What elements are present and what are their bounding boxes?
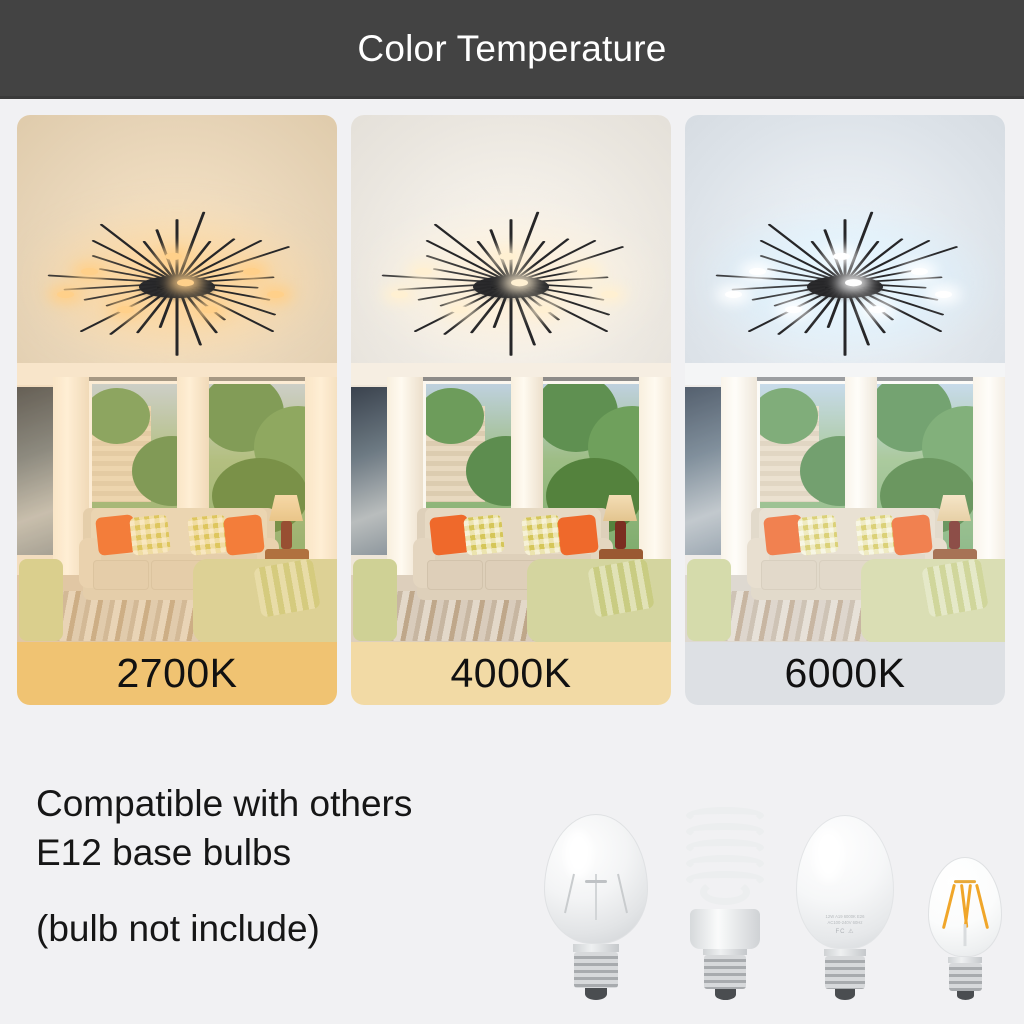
base-contact-tip: [957, 991, 974, 1000]
armchair-left: [687, 559, 731, 641]
light-bulb: [911, 268, 928, 275]
sputnik-ceiling-light: [27, 235, 327, 330]
fixture-spike: [510, 280, 513, 356]
wall-art: [17, 387, 55, 555]
led-print-line-1: 12W A19 6000K E26: [826, 914, 865, 920]
throw-pillow-orange: [557, 514, 599, 556]
curtain-panel: [639, 377, 671, 577]
temperature-card-2700k[interactable]: 2700K: [17, 115, 337, 705]
light-bulb: [725, 291, 742, 298]
scene-photo-2700k: [17, 115, 337, 642]
light-bulb: [57, 291, 74, 298]
light-bulb: [391, 291, 408, 298]
curtain-panel: [305, 377, 337, 577]
wall-art: [351, 387, 389, 555]
e26-screw-base: [704, 955, 746, 989]
led-print-line-2: AC100-240V 60Hz: [828, 920, 863, 926]
light-bulb: [749, 268, 766, 275]
throw-pillow-check: [855, 514, 897, 556]
light-bulb: [201, 306, 218, 313]
led-neck: [824, 949, 866, 956]
throw-pillow-check: [187, 514, 229, 556]
light-bulb: [165, 253, 182, 260]
compatible-bulbs-group: 12W A19 6000K E26 AC100-240V 60Hz FC ⚠: [534, 718, 1012, 1018]
led-filament-bulb: [928, 857, 1002, 1000]
sputnik-ceiling-light: [695, 235, 995, 330]
light-bulb: [833, 253, 850, 260]
light-bulb: [499, 253, 516, 260]
led-frosted-a-bulb: 12W A19 6000K E26 AC100-240V 60Hz FC ⚠: [796, 815, 894, 1000]
base-contact-tip: [585, 988, 607, 1000]
incandescent-a-shape-bulb: [544, 814, 648, 1000]
light-bulb: [415, 268, 432, 275]
sofa-cushion: [427, 560, 483, 590]
temperature-card-6000k[interactable]: 6000K: [685, 115, 1005, 705]
fixture-spike: [176, 280, 179, 356]
sofa-cushion: [761, 560, 817, 590]
cfl-ballast-housing: [690, 909, 760, 949]
incandescent-neck: [573, 944, 619, 952]
table-lamp-base: [281, 521, 292, 549]
temperature-label-2700k: 2700K: [17, 642, 337, 705]
wall-art: [685, 387, 723, 555]
armchair-left: [19, 559, 63, 641]
sputnik-ceiling-light: [361, 235, 661, 330]
compatibility-line-2: E12 base bulbs: [36, 829, 536, 878]
armchair-pillow: [921, 558, 989, 618]
ceiling-area: [685, 115, 1005, 370]
page-title: Color Temperature: [357, 30, 666, 67]
light-bulb: [267, 291, 284, 298]
throw-pillow-orange: [891, 514, 933, 556]
living-room-scene: [351, 363, 671, 642]
incandescent-glass: [544, 814, 648, 944]
temperature-card-4000k[interactable]: 4000K: [351, 115, 671, 705]
compatibility-note: (bulb not include): [36, 908, 536, 950]
throw-pillow-check: [463, 514, 505, 556]
light-bulb: [785, 306, 802, 313]
light-bulb: [451, 306, 468, 313]
compatibility-text: Compatible with others E12 base bulbs (b…: [36, 780, 536, 950]
ceiling-area: [17, 115, 337, 370]
compatibility-line-1: Compatible with others: [36, 780, 536, 829]
e26-screw-base: [574, 952, 618, 988]
e26-screw-base: [949, 963, 982, 991]
light-bulb: [935, 291, 952, 298]
page-header: Color Temperature: [0, 0, 1024, 96]
living-room-scene: [17, 363, 337, 642]
e26-screw-base: [825, 956, 865, 989]
throw-pillow-check: [521, 514, 563, 556]
light-bulb: [577, 268, 594, 275]
ceiling-area: [351, 115, 671, 370]
scene-photo-6000k: [685, 115, 1005, 642]
light-bulb: [81, 268, 98, 275]
throw-pillow-check: [797, 514, 839, 556]
filament-glass: [928, 857, 1002, 957]
light-bulb: [535, 306, 552, 313]
sofa-cushion: [93, 560, 149, 590]
living-room-scene: [685, 363, 1005, 642]
scene-photo-4000k: [351, 115, 671, 642]
header-divider: [0, 96, 1024, 99]
temperature-label-4000k: 4000K: [351, 642, 671, 705]
product-infographic: Color Temperature: [0, 0, 1024, 1024]
base-contact-tip: [715, 989, 736, 1000]
table-lamp-base: [949, 521, 960, 549]
throw-pillow-check: [129, 514, 171, 556]
armchair-pillow: [253, 558, 321, 618]
cfl-spiral-tube: [682, 805, 768, 909]
light-bulb: [117, 306, 134, 313]
led-filament-strands: [945, 880, 985, 936]
throw-pillow-orange: [223, 514, 265, 556]
light-bulb: [601, 291, 618, 298]
fixture-spike: [844, 280, 847, 356]
color-temperature-comparison: 2700K: [17, 115, 1007, 705]
base-contact-tip: [835, 989, 855, 1000]
led-diffuser: 12W A19 6000K E26 AC100-240V 60Hz FC ⚠: [796, 815, 894, 949]
led-certification-marks: FC ⚠: [835, 928, 854, 935]
armchair-left: [353, 559, 397, 641]
armchair-pillow: [587, 558, 655, 618]
curtain-panel: [973, 377, 1005, 577]
compatibility-section: Compatible with others E12 base bulbs (b…: [0, 712, 1024, 1024]
light-bulb: [243, 268, 260, 275]
temperature-label-6000k: 6000K: [685, 642, 1005, 705]
cfl-spiral-bulb: [682, 805, 768, 1000]
table-lamp-base: [615, 521, 626, 549]
light-bulb: [869, 306, 886, 313]
